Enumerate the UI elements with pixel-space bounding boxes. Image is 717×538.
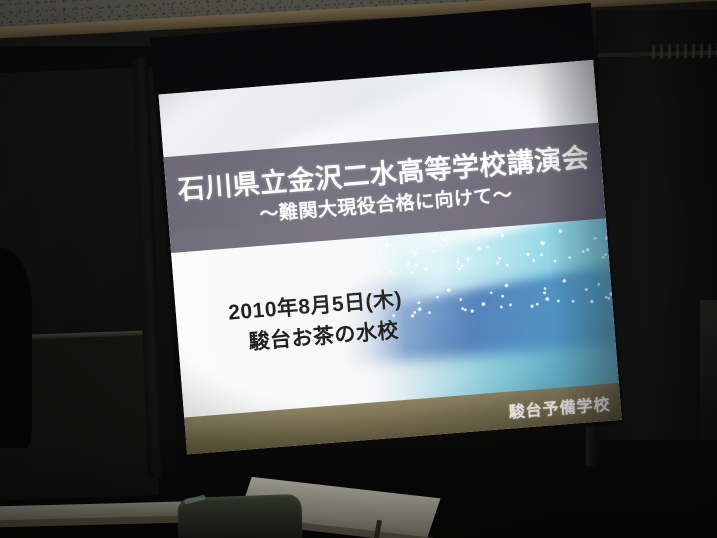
slide-footer-logo: 駿台予備学校 — [508, 390, 612, 422]
silhouette — [0, 248, 32, 448]
classroom-photo: 石川県立金沢二水高等学校講演会 〜難関大現役合格に向けて〜 2010年8月5日(… — [0, 0, 717, 538]
slide-canvas: 石川県立金沢二水高等学校講演会 〜難関大現役合格に向けて〜 2010年8月5日(… — [159, 60, 622, 454]
curtain-rings — [652, 43, 717, 59]
projection-screen: 石川県立金沢二水高等学校講演会 〜難関大現役合格に向けて〜 2010年8月5日(… — [150, 3, 624, 459]
wall-highlight — [700, 300, 717, 460]
